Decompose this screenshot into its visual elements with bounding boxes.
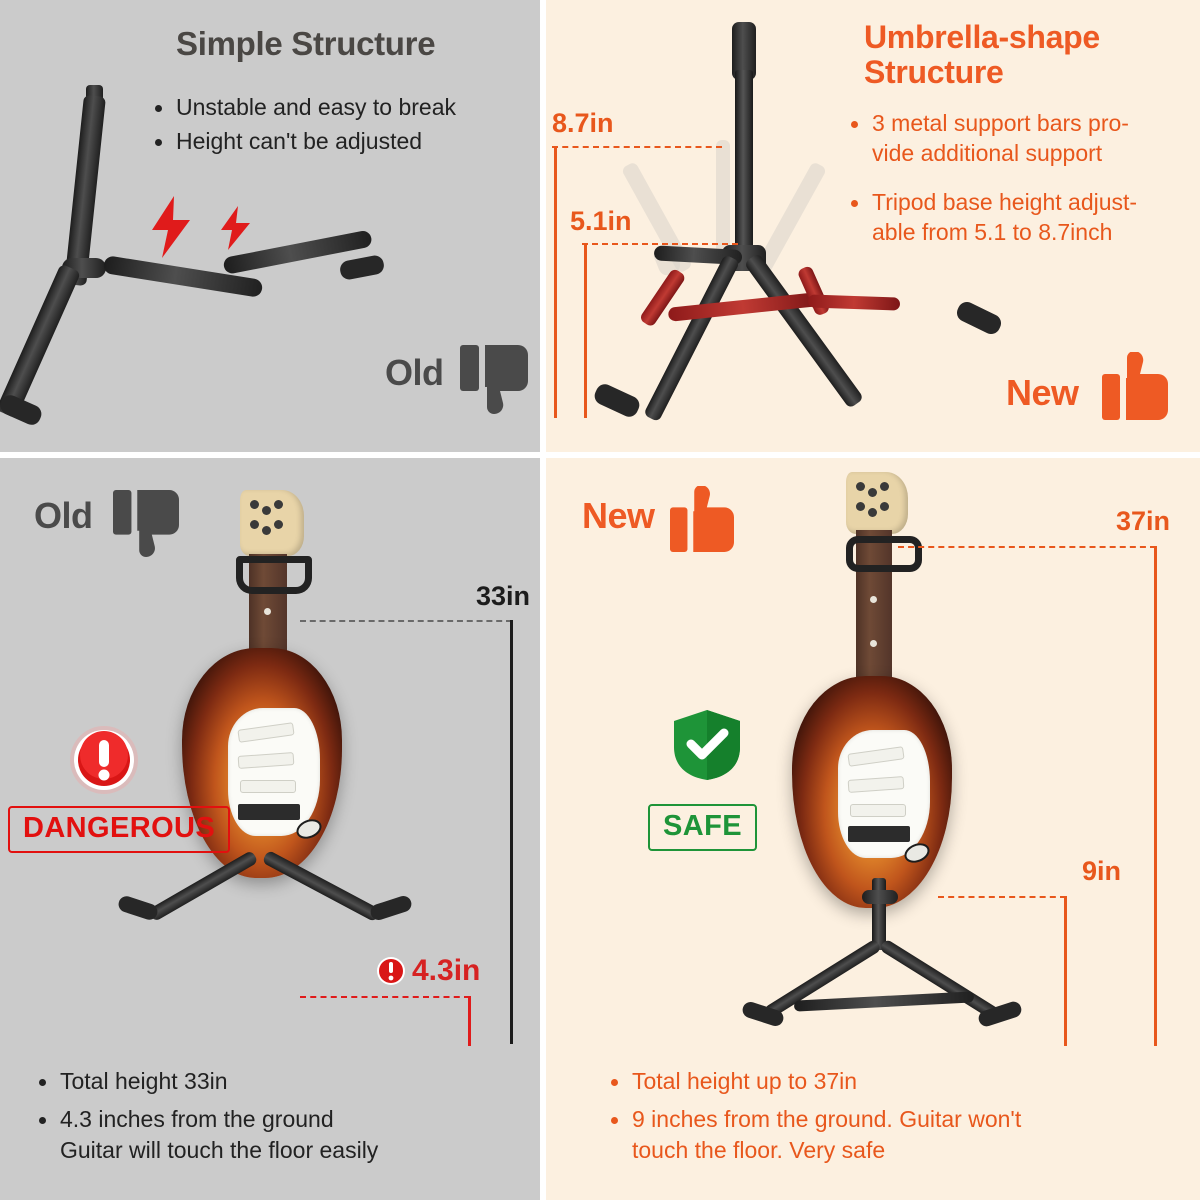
dimension-dash-8-7in [552, 146, 722, 148]
thumbs-up-icon [1102, 352, 1168, 422]
thumbs-up-icon [670, 486, 734, 554]
exclamation-circle-icon [376, 956, 406, 991]
dimension-line-9in [1064, 896, 1067, 1046]
panel-old-guitar: Old [0, 458, 540, 1200]
new-guitar-bullet-list: Total height up to 37in 9 inches from th… [606, 1066, 1166, 1169]
status-badge-dangerous: DANGEROUS [8, 806, 230, 853]
list-item-line: 4.3 inches from the ground [60, 1106, 334, 1132]
list-item: Total height up to 37in [606, 1066, 1166, 1096]
dimension-label-8-7in: 8.7in [552, 110, 614, 137]
list-item: 3 metal support bars pro- vide additiona… [846, 108, 1198, 169]
dimension-dash-4-3in [300, 996, 470, 998]
lightning-bolt-icon [218, 206, 252, 250]
thumbs-down-icon [460, 343, 528, 415]
dimension-dash-37in [898, 546, 1156, 548]
panel-new-guitar: New [546, 458, 1200, 1200]
dimension-dash-9in [938, 896, 1066, 898]
old-guitar-verdict-label: Old [34, 498, 93, 534]
list-item: 9 inches from the ground. Guitar won't t… [606, 1104, 1166, 1165]
dimension-line-33in [510, 620, 513, 1044]
dimension-dash-33in [300, 620, 512, 622]
list-item-line: able from 5.1 to 8.7inch [872, 219, 1112, 245]
dimension-label-33in: 33in [476, 583, 530, 610]
dimension-line-4-3in [468, 996, 471, 1046]
list-item: Total height 33in [34, 1066, 514, 1096]
list-item: 4.3 inches from the ground Guitar will t… [34, 1104, 514, 1165]
comparison-infographic: Simple Structure Unstable and easy to br… [0, 0, 1200, 1200]
old-structure-title: Simple Structure [176, 26, 435, 62]
list-item: Unstable and easy to break [150, 92, 540, 122]
new-structure-title-line2: Structure [864, 55, 1194, 91]
list-item-line: 3 metal support bars pro- [872, 110, 1129, 136]
panel-new-structure: Umbrella-shape Structure 3 metal support… [546, 0, 1200, 452]
dimension-label-5-1in: 5.1in [570, 208, 632, 235]
dimension-line-8-7in [554, 148, 557, 418]
thumbs-down-icon [113, 488, 179, 558]
list-item-line: Tripod base height adjust- [872, 189, 1137, 215]
exclamation-circle-icon [68, 724, 140, 801]
list-item-line: vide additional support [872, 140, 1102, 166]
old-structure-bullet-list: Unstable and easy to break Height can't … [150, 92, 540, 161]
dimension-label-37in: 37in [1116, 508, 1170, 535]
dimension-line-5-1in [584, 245, 587, 418]
dimension-dash-5-1in [582, 243, 738, 245]
status-badge-safe: SAFE [648, 804, 757, 851]
old-verdict-label: Old [385, 355, 444, 391]
new-verdict-label: New [1006, 375, 1079, 411]
old-guitar-bullet-list: Total height 33in 4.3 inches from the gr… [34, 1066, 514, 1169]
new-structure-title-line1: Umbrella-shape [864, 20, 1194, 56]
shield-check-icon [672, 708, 742, 787]
new-structure-bullet-list: 3 metal support bars pro- vide additiona… [846, 108, 1198, 251]
list-item-line: touch the floor. Very safe [632, 1137, 885, 1163]
list-item-line: 9 inches from the ground. Guitar won't [632, 1106, 1021, 1132]
new-guitar-verdict-label: New [582, 498, 655, 534]
list-item: Tripod base height adjust- able from 5.1… [846, 187, 1198, 248]
dimension-label-4-3in: 4.3in [412, 956, 480, 986]
list-item-line: Guitar will touch the floor easily [60, 1137, 378, 1163]
dimension-line-37in [1154, 546, 1157, 1046]
dimension-label-9in: 9in [1082, 858, 1121, 885]
lightning-bolt-icon [148, 196, 194, 258]
list-item: Height can't be adjusted [150, 126, 540, 156]
panel-old-structure: Simple Structure Unstable and easy to br… [0, 0, 540, 452]
